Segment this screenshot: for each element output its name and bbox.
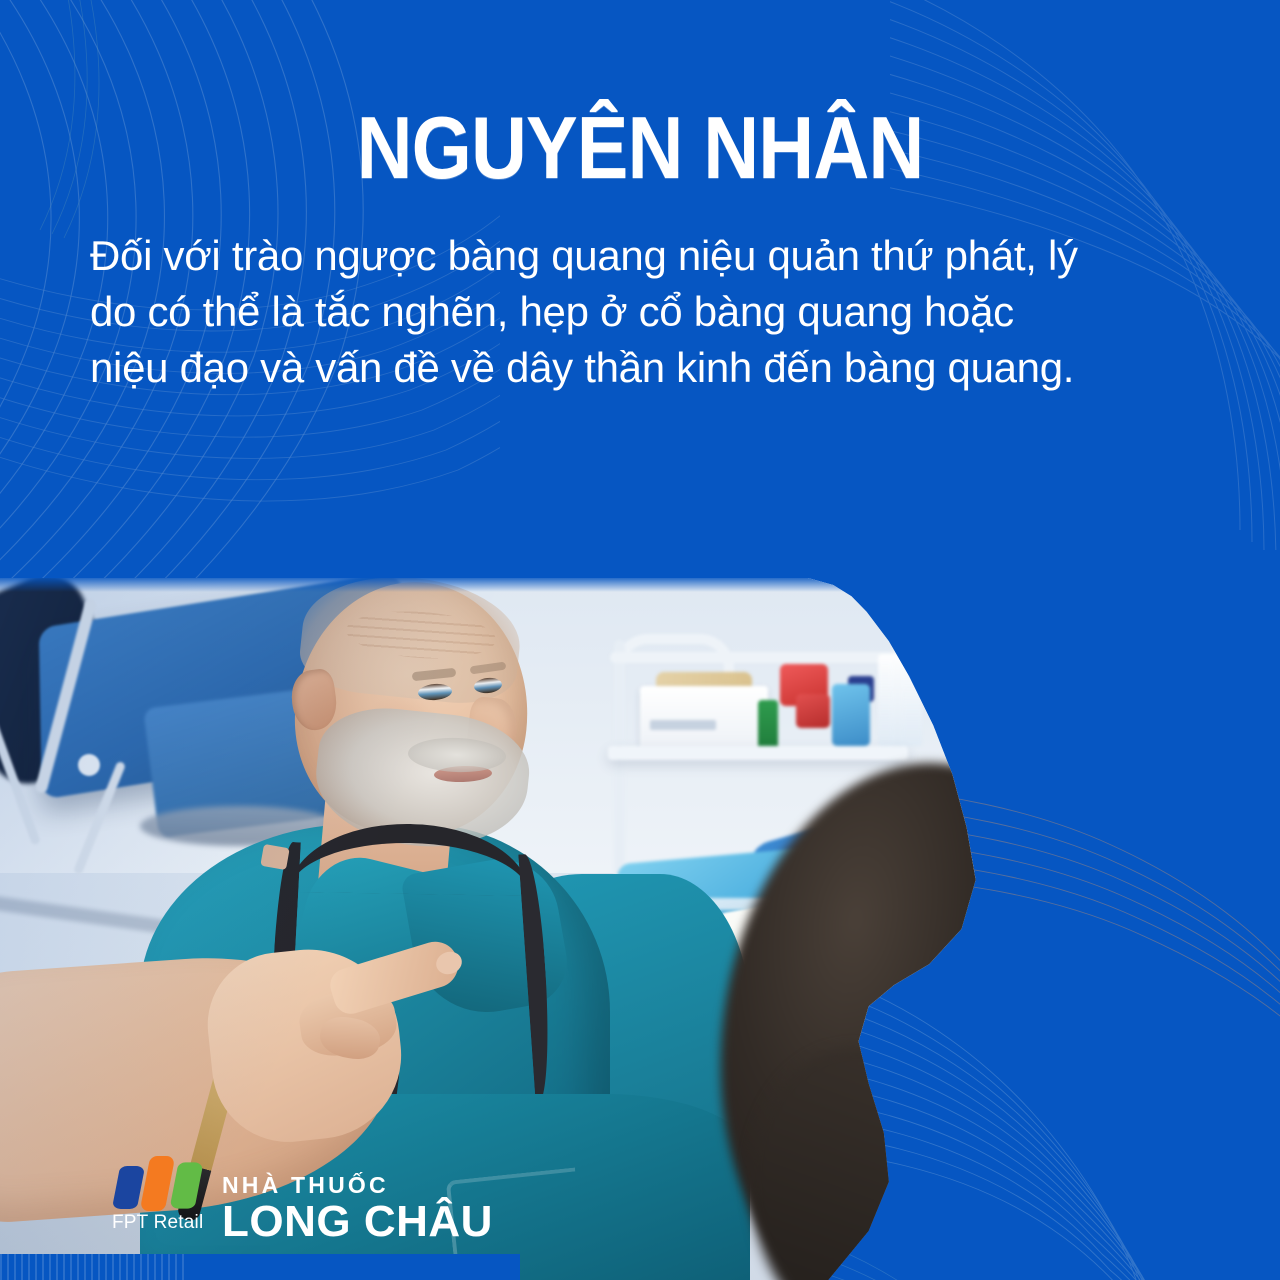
brand-name: LONG CHÂU <box>222 1200 493 1244</box>
bottom-blue-strip <box>0 1254 520 1280</box>
body-line-2: do có thể là tắc nghẽn, hẹp ở cổ bàng qu… <box>90 284 1195 340</box>
poster-canvas: NGUYÊN NHÂN Đối với trào ngược bàng quan… <box>0 0 1280 1280</box>
foreground-blur-shoulder <box>750 1048 990 1280</box>
page-title: NGUYÊN NHÂN <box>77 104 1203 192</box>
brand-subtitle: NHÀ THUỐC <box>222 1173 493 1198</box>
fpt-retail-label: FPT Retail <box>112 1212 203 1234</box>
body-paragraph: Đối với trào ngược bàng quang niệu quản … <box>90 228 1195 396</box>
body-line-3: niệu đạo và vấn đề về dây thần kinh đến … <box>90 340 1195 396</box>
body-line-1: Đối với trào ngược bàng quang niệu quản … <box>90 228 1195 284</box>
brand-logo: FPT Retail NHÀ THUỐC LONG CHÂU <box>114 1156 493 1246</box>
fpt-logo-icon <box>114 1156 206 1214</box>
fpt-retail-logo-mark: FPT Retail <box>114 1156 206 1246</box>
